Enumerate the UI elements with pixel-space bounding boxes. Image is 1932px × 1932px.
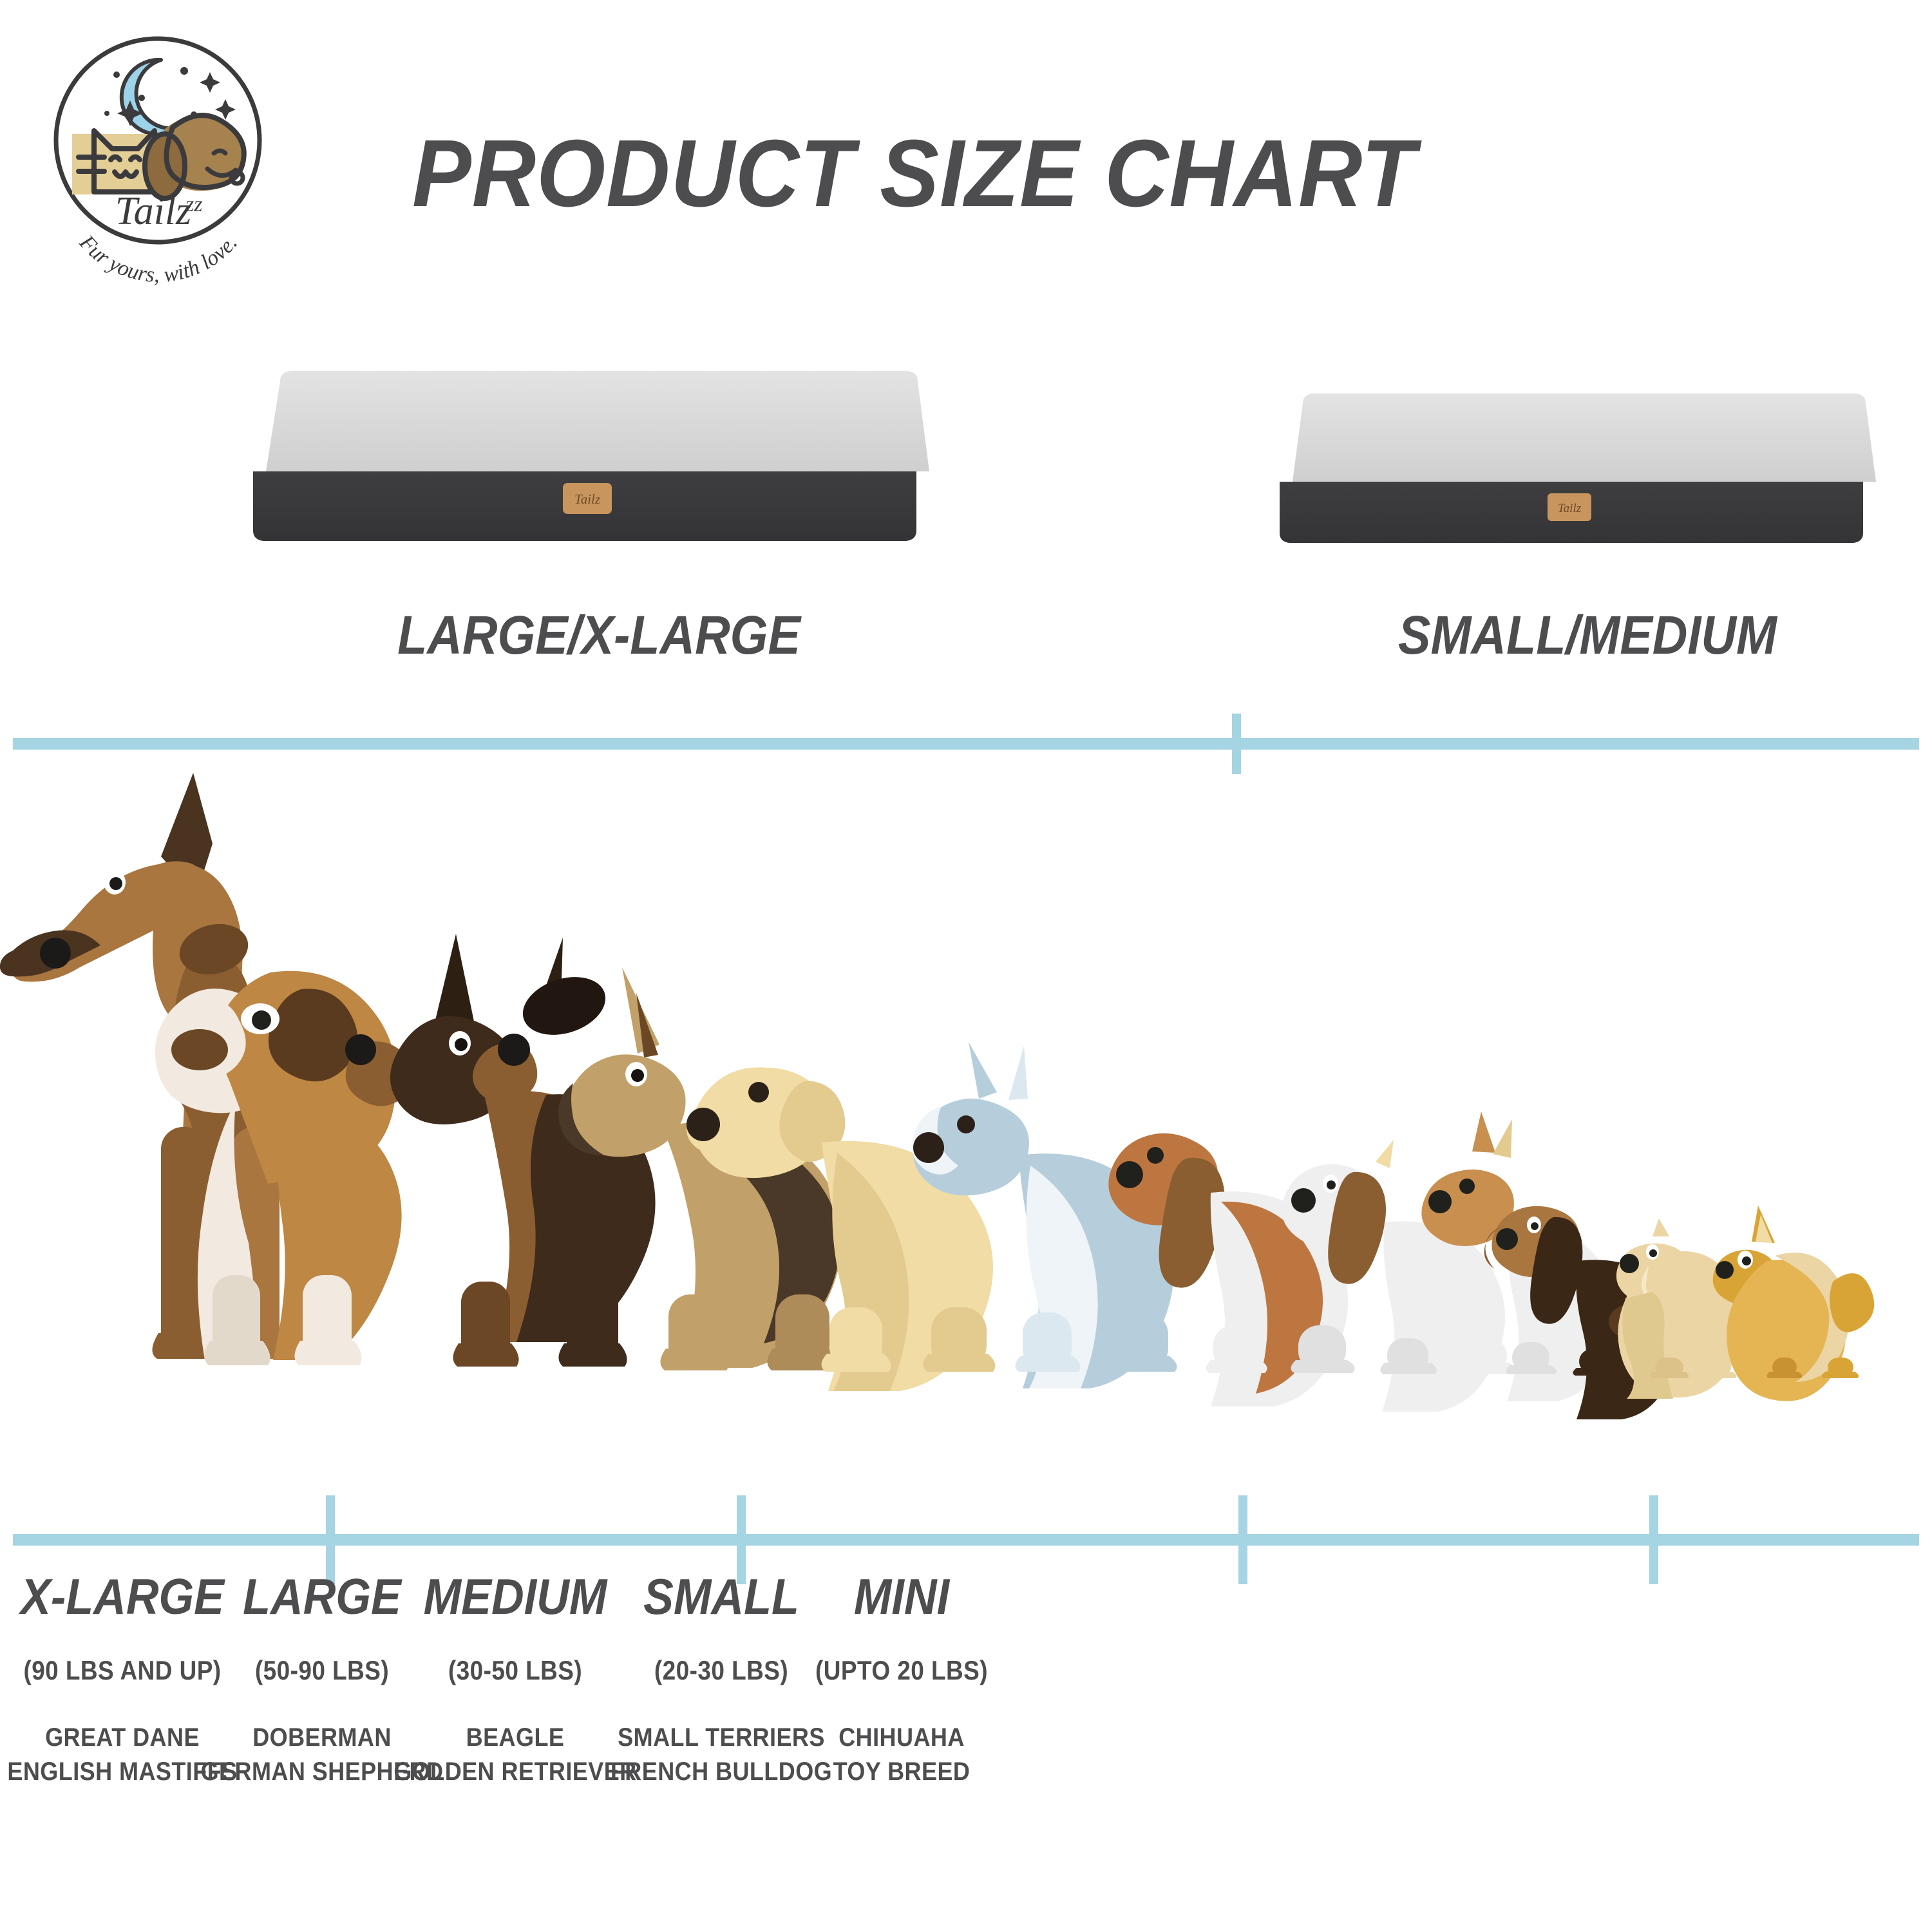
size-name: MINI — [722, 1571, 1081, 1622]
dog-lineup-svg — [0, 766, 1932, 1533]
cat-icon — [72, 131, 155, 194]
dog-size-lineup — [0, 766, 1932, 1533]
logo-svg: Tailz zz Fur yours, with love. — [39, 31, 277, 289]
svg-text:Tailz: Tailz — [1558, 502, 1582, 515]
dog-pomeranian — [1616, 1218, 1744, 1399]
page-title: PRODUCT SIZE CHART — [412, 119, 1443, 229]
bed-top-surface — [1293, 393, 1876, 482]
product-bed-small: Tailz — [1253, 386, 1922, 567]
bed-large-svg: Tailz — [219, 361, 979, 567]
rule-tick-top — [1232, 714, 1241, 774]
svg-text:Tailz: Tailz — [574, 491, 600, 507]
bed-top-surface — [266, 371, 929, 471]
product-bed-large: Tailz — [219, 361, 979, 567]
size-breeds: CHIHUAHA TOY BREED — [722, 1721, 1081, 1789]
bed-brand-tag: Tailz — [1548, 493, 1591, 521]
logo-wordmark-zz: zz — [185, 193, 202, 216]
divider-rule-bottom — [13, 1534, 1919, 1546]
size-columns: X-LARGE (90 LBS AND UP) GREAT DANE ENGLI… — [0, 1571, 1932, 1893]
bed-label-small: SMALL/MEDIUM — [1286, 604, 1889, 667]
bed-brand-tag: Tailz — [563, 483, 612, 514]
size-column-mini: MINI (UPTO 20 LBS) CHIHUAHA TOY BREED — [702, 1571, 1101, 1789]
divider-rule-top — [13, 738, 1919, 750]
brand-logo: Tailz zz Fur yours, with love. — [39, 31, 277, 289]
logo-wordmark: Tailz — [115, 189, 191, 233]
bed-label-large: LARGE/X-LARGE — [257, 604, 941, 667]
breed-line: CHIHUAHA — [722, 1721, 1081, 1755]
size-weight: (UPTO 20 LBS) — [726, 1655, 1077, 1686]
bed-small-svg: Tailz — [1253, 386, 1922, 567]
dog-chihuahua — [1713, 1206, 1875, 1401]
breed-line: TOY BREED — [722, 1755, 1081, 1789]
